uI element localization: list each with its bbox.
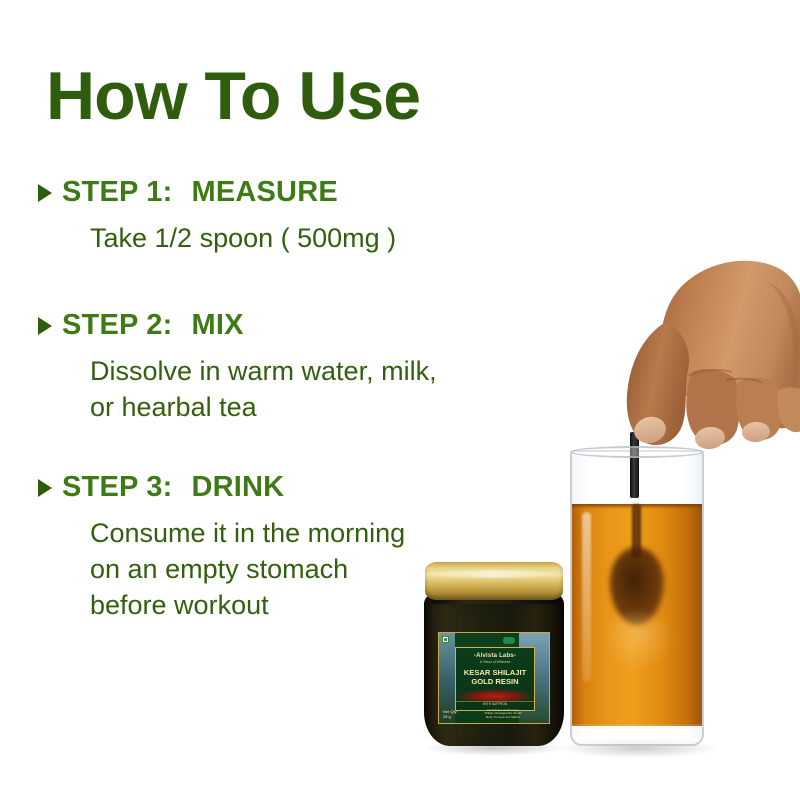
triangle-bullet-icon <box>38 317 52 335</box>
step-2-title: MIX <box>191 309 243 342</box>
glass-base-highlight <box>572 724 702 744</box>
saffron-strands-art <box>456 689 534 701</box>
step-1-title: MEASURE <box>191 176 337 209</box>
step-2-body: Dissolve in warm water, milk, or hearbal… <box>90 354 437 426</box>
product-jar: -Alvista Labs- A Vision of Wellness KESA… <box>416 560 572 752</box>
step-2-label: STEP 2: <box>62 309 172 342</box>
step-block-3: STEP 3: DRINK Consume it in the morning … <box>38 471 405 624</box>
glass-highlight <box>582 512 591 682</box>
step-3-body: Consume it in the morning on an empty st… <box>90 516 405 624</box>
dissolving-swirl <box>600 612 674 672</box>
step-block-2: STEP 2: MIX Dissolve in warm water, milk… <box>38 309 437 426</box>
page-title: How To Use <box>46 62 420 130</box>
step-1-heading: STEP 1: MEASURE <box>38 176 396 209</box>
triangle-bullet-icon <box>38 479 52 497</box>
triangle-bullet-icon <box>38 184 52 202</box>
label-inner-card: -Alvista Labs- A Vision of Wellness KESA… <box>455 647 535 711</box>
step-3-title: DRINK <box>191 471 284 504</box>
jar-label: -Alvista Labs- A Vision of Wellness KESA… <box>438 632 550 724</box>
step-1-body: Take 1/2 spoon ( 500mg ) <box>90 221 396 257</box>
hand-holding-spoon <box>618 252 800 467</box>
brand-tagline: A Vision of Wellness <box>456 660 534 664</box>
label-description: For Stamina and Energy | Shilajit, Ashwa… <box>479 709 527 720</box>
glass-of-tea <box>570 446 704 752</box>
net-quantity: Net Qty: 25 g <box>443 709 458 719</box>
with-saffron-text: WITH SAFFRON <box>456 701 534 706</box>
step-block-1: STEP 1: MEASURE Take 1/2 spoon ( 500mg ) <box>38 176 396 257</box>
brand-name: -Alvista Labs- <box>456 653 534 659</box>
step-3-label: STEP 3: <box>62 471 172 504</box>
vegetarian-mark-icon <box>442 636 449 643</box>
product-name: KESAR SHILAJIT GOLD RESIN <box>456 669 534 686</box>
step-1-label: STEP 1: <box>62 176 172 209</box>
jar-gold-cap <box>425 562 563 600</box>
step-2-heading: STEP 2: MIX <box>38 309 437 342</box>
fssai-mark-icon <box>503 637 515 644</box>
step-3-heading: STEP 3: DRINK <box>38 471 405 504</box>
how-to-use-infographic: How To Use STEP 1: MEASURE Take 1/2 spoo… <box>0 0 800 800</box>
